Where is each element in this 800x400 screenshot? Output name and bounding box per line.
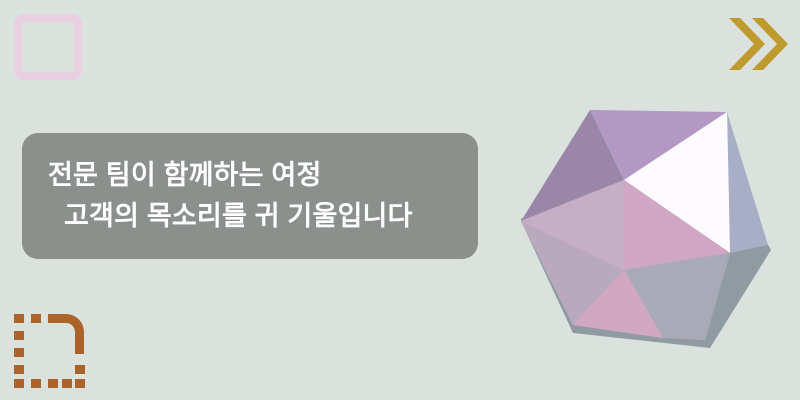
headline-line-1: 전문 팀이 함께하는 여정: [48, 155, 478, 196]
icosahedron-illustration: [505, 90, 795, 365]
headline-line-2: 고객의 목소리를 귀 기울입니다: [48, 196, 478, 237]
headline-plate: 전문 팀이 함께하는 여정 고객의 목소리를 귀 기울입니다: [22, 133, 478, 259]
square-outline-decoration: [14, 14, 82, 80]
dashed-corner-frame-decoration: [14, 296, 98, 388]
promo-banner: 전문 팀이 함께하는 여정 고객의 목소리를 귀 기울입니다: [0, 0, 800, 400]
double-chevron-right-icon: [726, 14, 788, 74]
